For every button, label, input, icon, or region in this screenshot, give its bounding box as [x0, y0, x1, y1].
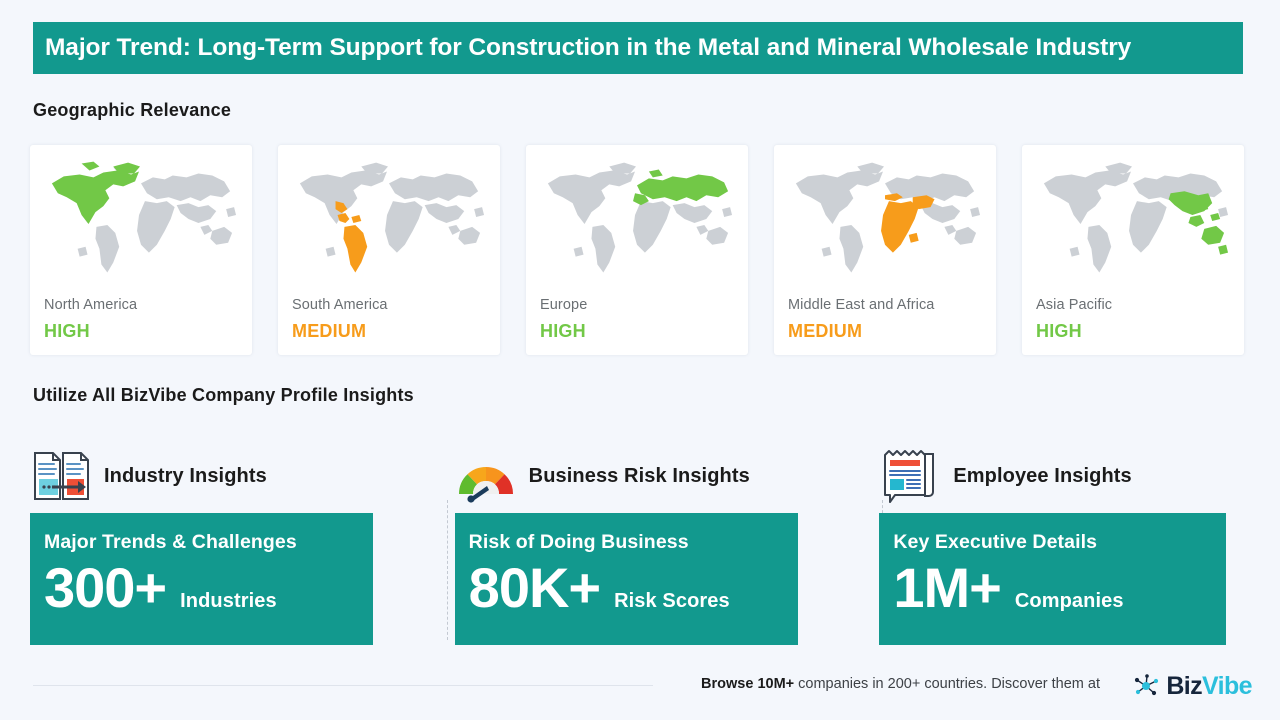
stat-number: 300+	[44, 560, 166, 616]
footer-browse-strong: Browse 10M+	[701, 676, 794, 692]
geo-card-level-badge: HIGH	[540, 321, 586, 342]
geo-card-level-badge: HIGH	[44, 321, 90, 342]
world-map-middle-east-africa-icon	[786, 153, 984, 285]
geo-card-region-label: Europe	[540, 297, 587, 313]
geo-card-region-label: North America	[44, 297, 137, 313]
footer-browse-text: Browse 10M+ companies in 200+ countries.…	[701, 676, 1100, 692]
bizvibe-network-logo-icon	[1133, 672, 1161, 700]
stat-label: Major Trends & Challenges	[44, 531, 373, 554]
world-map-asia-pacific-icon	[1034, 153, 1232, 285]
insight-title: Industry Insights	[104, 465, 267, 488]
brand-name-part2: Vibe	[1202, 672, 1252, 700]
geographic-cards-row: North America HIGH South Am	[30, 145, 1256, 355]
stat-box-risk-of-doing-business: Risk of Doing Business 80K+ Risk Scores	[455, 513, 798, 645]
risk-gauge-icon	[455, 448, 517, 504]
footer-divider	[33, 685, 653, 686]
bizvibe-logo[interactable]: BizVibe	[1133, 672, 1252, 700]
geo-card-level-badge: HIGH	[1036, 321, 1082, 342]
highlight-north-america	[52, 162, 140, 224]
stat-number: 1M+	[893, 560, 1001, 616]
insights-heading: Utilize All BizVibe Company Profile Insi…	[33, 385, 414, 406]
insight-title: Employee Insights	[953, 465, 1131, 488]
stat-figure-row: 80K+ Risk Scores	[469, 560, 798, 616]
brand-name-part1: Biz	[1166, 672, 1202, 700]
highlight-europe	[633, 170, 728, 206]
insight-header: Employee Insights	[879, 444, 1256, 508]
highlight-asia-pacific	[1169, 191, 1228, 254]
geo-card-level-badge: MEDIUM	[292, 321, 366, 342]
insight-title: Business Risk Insights	[529, 465, 750, 488]
geo-card-region-label: Asia Pacific	[1036, 297, 1112, 313]
stat-figure-row: 1M+ Companies	[893, 560, 1226, 616]
brand-name: BizVibe	[1166, 674, 1252, 699]
insight-header: Business Risk Insights	[455, 444, 832, 508]
insight-column-industry: Industry Insights Major Trends & Challen…	[30, 444, 407, 644]
highlight-south-america	[336, 201, 368, 272]
geo-card-level-badge: MEDIUM	[788, 321, 862, 342]
stat-unit: Risk Scores	[614, 590, 730, 613]
documents-transfer-icon	[30, 448, 92, 504]
banner-title: Major Trend: Long-Term Support for Const…	[45, 34, 1131, 62]
header-banner: Major Trend: Long-Term Support for Const…	[33, 22, 1243, 74]
geo-card-south-america[interactable]: South America MEDIUM	[278, 145, 500, 355]
stat-number: 80K+	[469, 560, 600, 616]
stat-box-major-trends: Major Trends & Challenges 300+ Industrie…	[30, 513, 373, 645]
stat-figure-row: 300+ Industries	[44, 560, 373, 616]
geographic-relevance-heading: Geographic Relevance	[33, 100, 231, 121]
geo-card-north-america[interactable]: North America HIGH	[30, 145, 252, 355]
geo-card-region-label: South America	[292, 297, 388, 313]
world-map-south-america-icon	[290, 153, 488, 285]
stat-box-key-executive-details: Key Executive Details 1M+ Companies	[879, 513, 1226, 645]
footer-browse-rest: companies in 200+ countries. Discover th…	[794, 676, 1100, 692]
geo-card-middle-east-africa[interactable]: Middle East and Africa MEDIUM	[774, 145, 996, 355]
insights-column-divider	[447, 500, 448, 640]
world-map-north-america-icon	[42, 153, 240, 285]
stat-label: Risk of Doing Business	[469, 531, 798, 554]
insights-row: Industry Insights Major Trends & Challen…	[30, 444, 1256, 644]
insight-header: Industry Insights	[30, 444, 407, 508]
highlight-middle-east-africa	[881, 193, 934, 252]
world-map-europe-icon	[538, 153, 736, 285]
stat-unit: Companies	[1015, 590, 1124, 613]
insight-column-business-risk: Business Risk Insights Risk of Doing Bus…	[455, 444, 832, 644]
insight-column-employee: Employee Insights Key Executive Details …	[879, 444, 1256, 644]
footer: Browse 10M+ companies in 200+ countries.…	[0, 676, 1280, 720]
newspaper-speech-bubble-icon	[879, 448, 941, 504]
stat-label: Key Executive Details	[893, 531, 1226, 554]
geo-card-region-label: Middle East and Africa	[788, 297, 934, 313]
stat-unit: Industries	[180, 590, 277, 613]
geo-card-europe[interactable]: Europe HIGH	[526, 145, 748, 355]
geo-card-asia-pacific[interactable]: Asia Pacific HIGH	[1022, 145, 1244, 355]
